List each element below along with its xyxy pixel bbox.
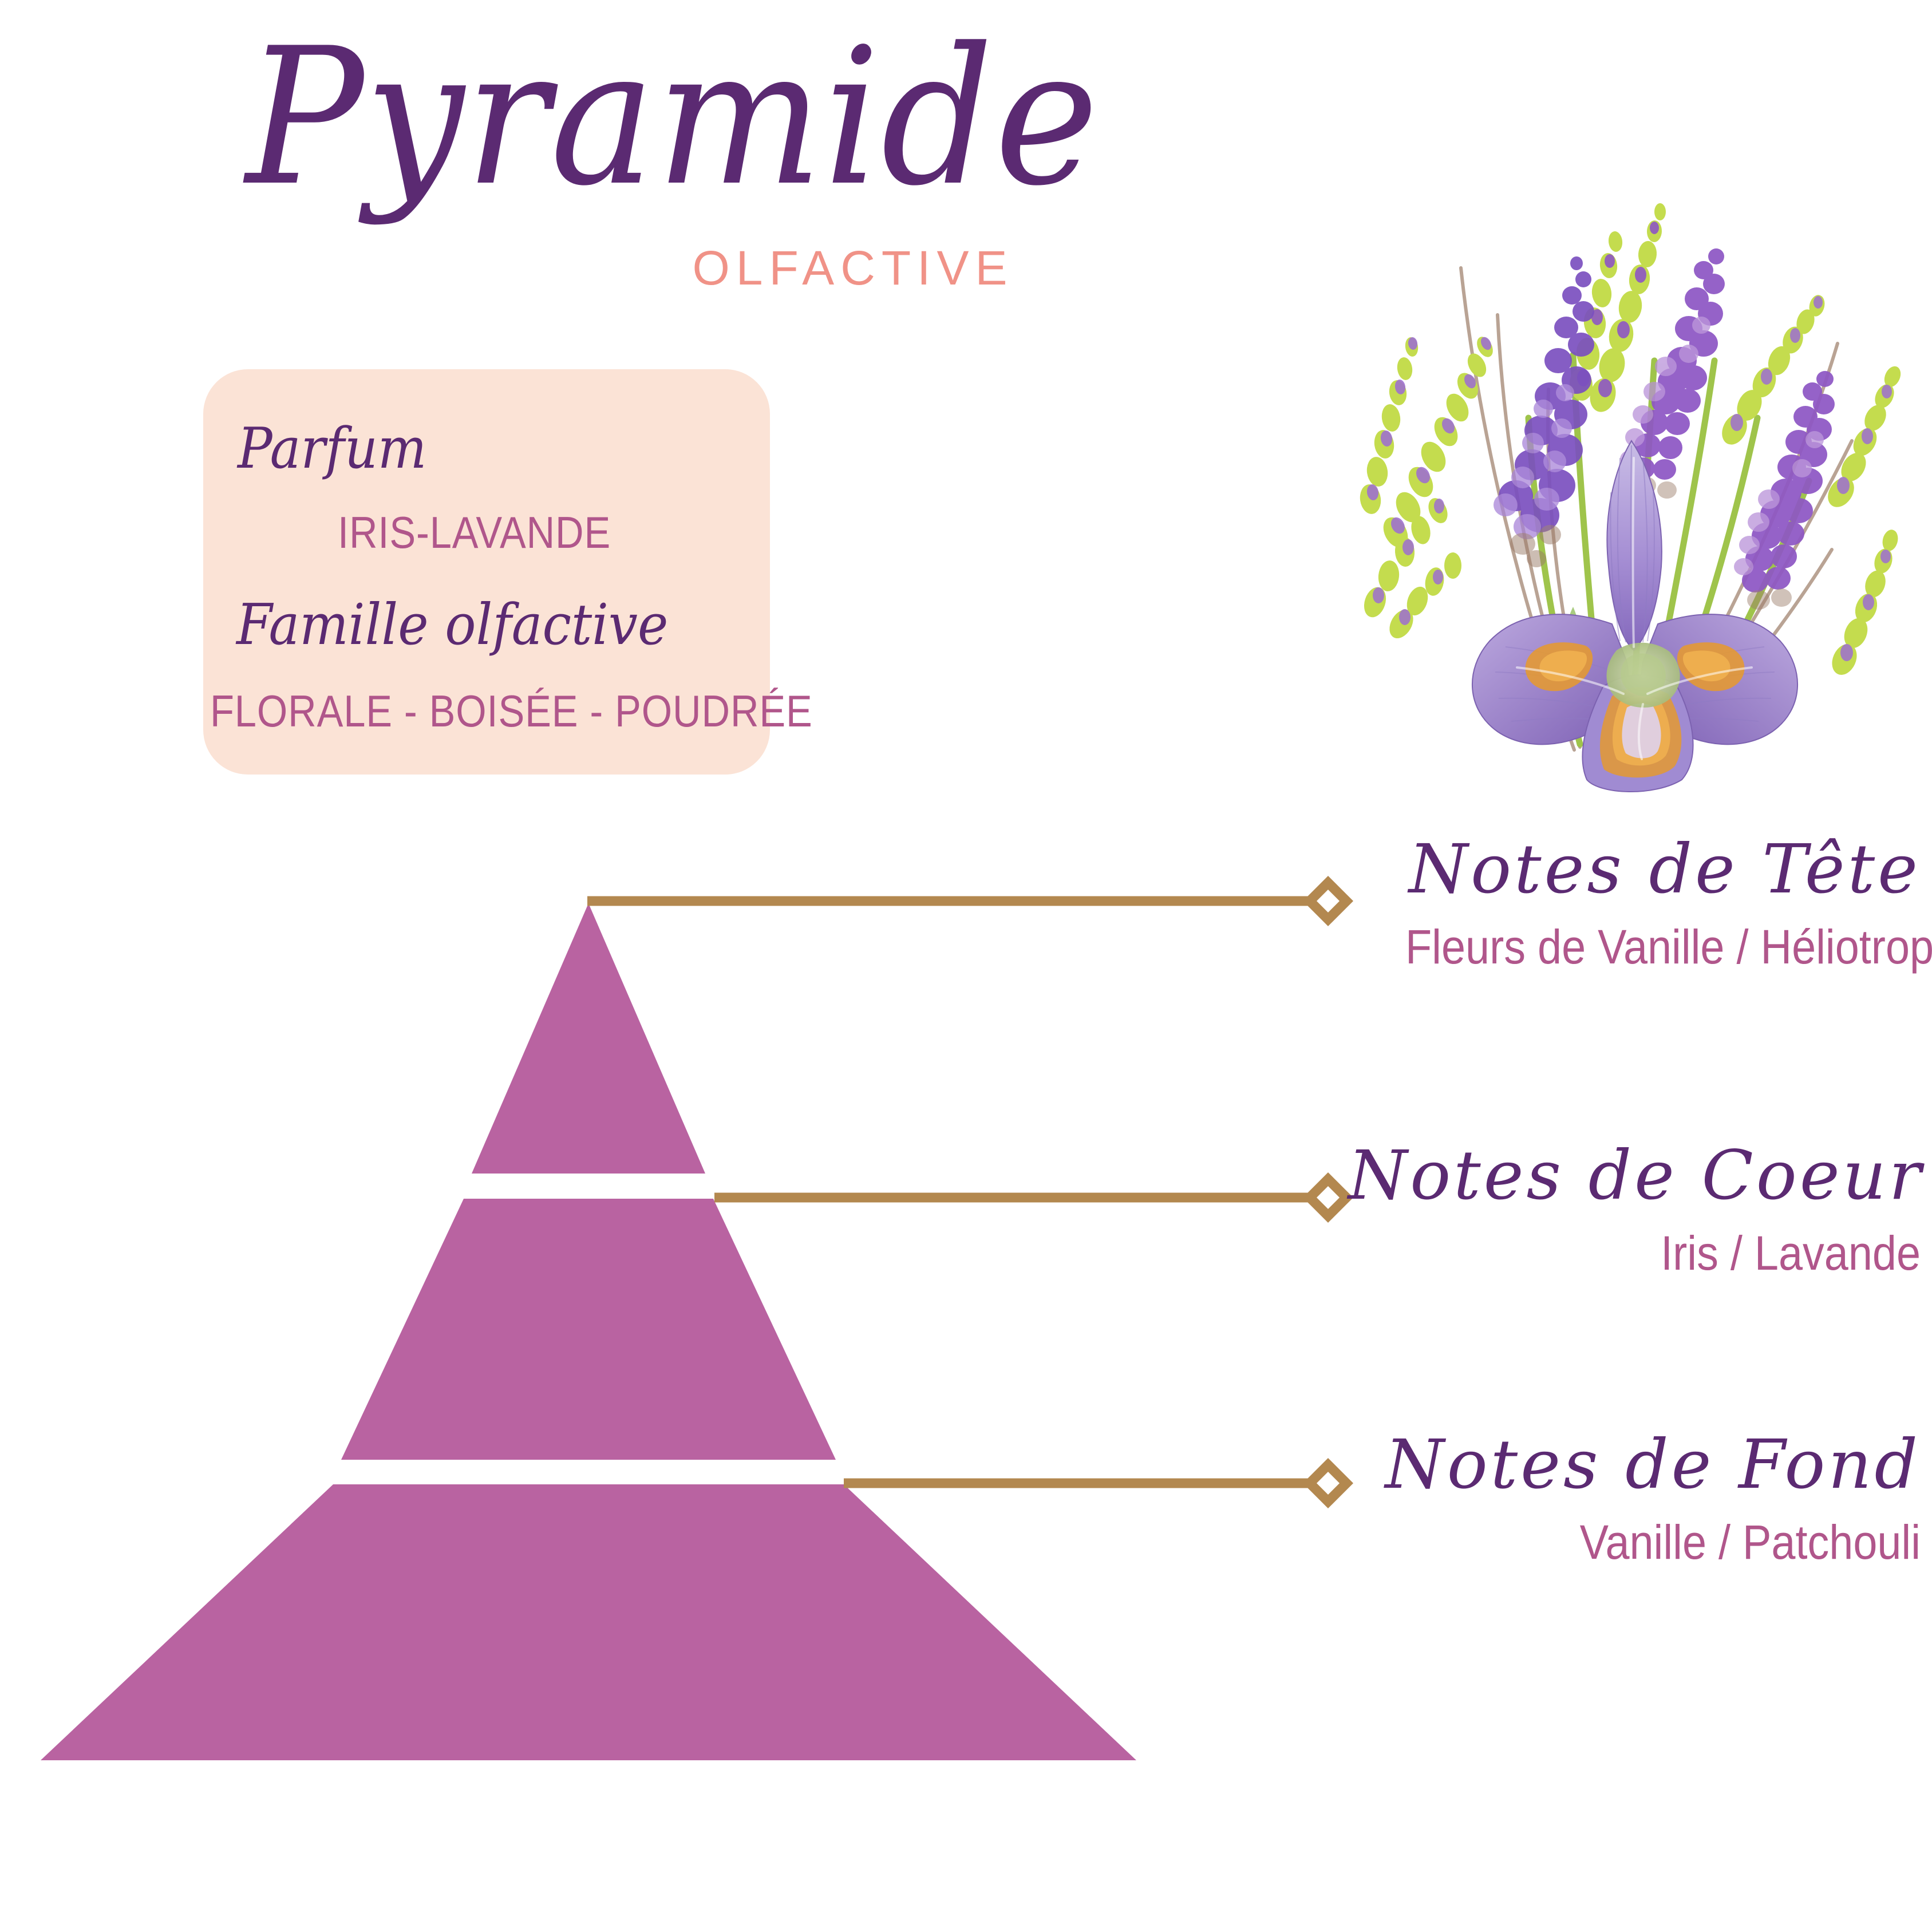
note-title-top: Notes de Tête [1348,833,1921,906]
connector-diamond-top [1310,883,1346,919]
pyramid-tier-base[interactable] [41,1484,1136,1760]
olfactive-family-value: FLORALE - BOISÉE - POUDRÉE [210,685,813,737]
olfactive-pyramid-chart [0,859,1202,1803]
page-subtitle: OLFACTIVE [0,240,1345,296]
connector-diamond-base [1310,1465,1346,1502]
lavender-bud-sprig-left [1358,334,1496,552]
note-block-base: Notes de Fond Vanille / Patchouli [1348,1428,1921,1569]
note-title-base: Notes de Fond [1348,1428,1921,1501]
pyramid-tier-top[interactable] [472,903,705,1174]
perfume-info-card: Parfum IRIS-LAVANDE Famille olfactive FL… [203,369,770,775]
iris-lavender-bouquet-illustration [1334,172,1906,796]
note-block-top: Notes de Tête Fleurs de Vanille / Héliot… [1348,833,1921,974]
note-detail-base: Vanille / Patchouli [1405,1516,1921,1568]
perfume-value: IRIS-LAVANDE [338,507,611,559]
note-detail-heart: Iris / Lavande [1405,1227,1921,1279]
note-detail-top: Fleurs de Vanille / Héliotrope [1405,920,1921,973]
pyramid-tier-heart[interactable] [341,1199,836,1460]
page-header: Pyramide OLFACTIVE [0,0,1345,321]
note-block-heart: Notes de Coeur Iris / Lavande [1348,1139,1921,1280]
lavender-spike-purple-left [1494,256,1594,567]
perfume-label: Parfum [238,416,426,481]
page-title: Pyramide [47,23,1298,212]
connector-diamond-heart [1310,1179,1346,1216]
note-title-heart: Notes de Coeur [1348,1139,1921,1212]
olfactive-family-label: Famille olfactive [236,592,668,658]
